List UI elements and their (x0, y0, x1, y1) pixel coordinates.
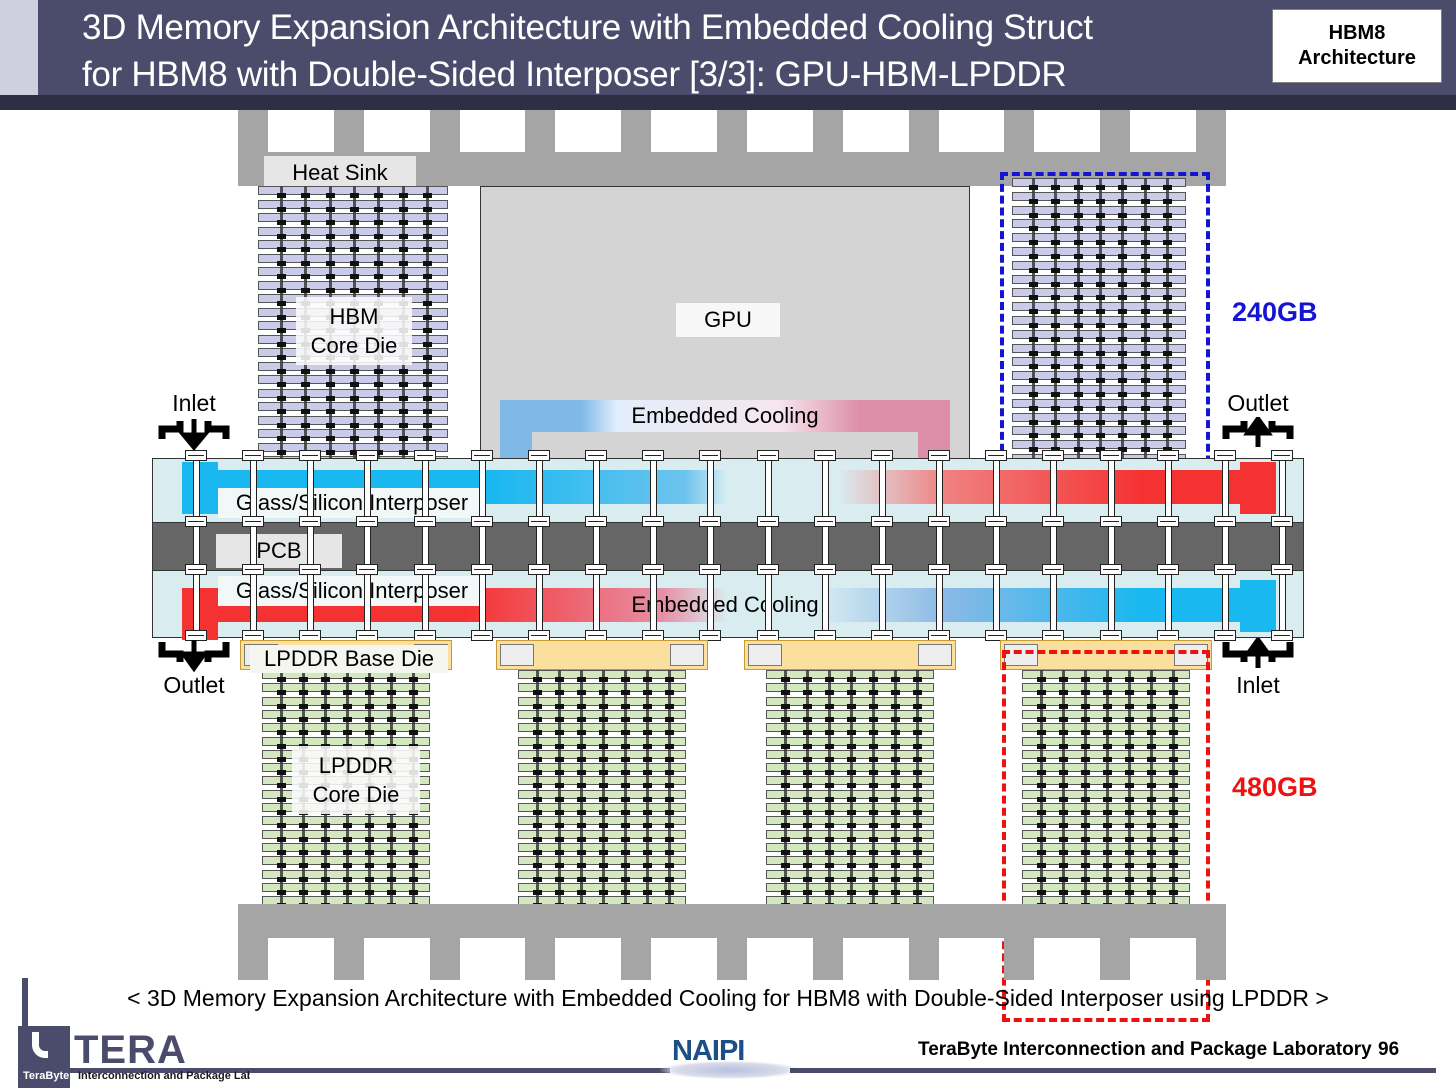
microbump (555, 730, 564, 735)
microbump (321, 730, 330, 735)
microbump (803, 863, 812, 868)
micro-bump (585, 450, 607, 461)
microbump (326, 234, 335, 239)
through-via (707, 570, 714, 638)
microbump (891, 783, 900, 788)
microbump (277, 355, 286, 360)
microbump (374, 382, 383, 387)
microbump (555, 690, 564, 695)
microbump (277, 220, 286, 225)
through-via (422, 570, 429, 638)
microbump (399, 274, 408, 279)
microbump (577, 863, 586, 868)
micro-bump (471, 516, 493, 527)
microbump (781, 744, 790, 749)
microbump (350, 423, 359, 428)
microbump (825, 850, 834, 855)
hbm-core-label-line1: HBM (330, 302, 379, 331)
micro-bump (928, 450, 950, 461)
microbump (825, 890, 834, 895)
microbump (374, 220, 383, 225)
footer-rule-right (790, 1068, 1436, 1073)
port-bottom-right-label: Inlet (1222, 672, 1294, 699)
microbump (555, 850, 564, 855)
heat-sink-fin (1196, 110, 1226, 154)
micro-bump (528, 450, 550, 461)
through-via (936, 570, 943, 638)
microbump (577, 890, 586, 895)
lpddr-stack (766, 670, 934, 922)
microbump (825, 744, 834, 749)
microbump (387, 823, 396, 828)
microbump (621, 890, 630, 895)
lpddr-base-die-label: LPDDR Base Die (250, 645, 448, 673)
microbump (277, 863, 286, 868)
microbump (423, 247, 432, 252)
microbump (374, 193, 383, 198)
microbump (869, 677, 878, 682)
microbump (301, 220, 310, 225)
micro-bump (1100, 516, 1122, 527)
lpddr-stack (518, 670, 686, 922)
micro-bump (757, 564, 779, 575)
bottom-cooling-label: Embedded Cooling (610, 590, 840, 620)
microbump (555, 823, 564, 828)
hbm-core-die-label: HBM Core Die (296, 297, 412, 365)
microbump (891, 877, 900, 882)
microbump (599, 744, 608, 749)
microbump (577, 770, 586, 775)
microbump (409, 877, 418, 882)
microbump (913, 730, 922, 735)
micro-bump (1042, 516, 1064, 527)
tera-logo-word: TERA (74, 1028, 187, 1073)
micro-bump (299, 564, 321, 575)
microbump (399, 220, 408, 225)
microbump (869, 690, 878, 695)
microbump (847, 757, 856, 762)
microbump (387, 863, 396, 868)
microbump (423, 301, 432, 306)
lpddr-base-die (744, 640, 956, 670)
microbump (891, 677, 900, 682)
micro-bump (242, 564, 264, 575)
microbump (621, 823, 630, 828)
microbump (781, 717, 790, 722)
through-via (1108, 458, 1115, 524)
microbump (825, 837, 834, 842)
through-via (307, 458, 314, 524)
through-via (936, 458, 943, 524)
microbump (599, 810, 608, 815)
microbump (299, 863, 308, 868)
through-via (707, 458, 714, 524)
microbump (825, 717, 834, 722)
badge-line1: HBM8 (1329, 21, 1386, 46)
microbump (913, 823, 922, 828)
micro-bump (699, 564, 721, 575)
microbump (555, 877, 564, 882)
status-badge: HBM8 Architecture (1272, 9, 1442, 83)
through-via (879, 570, 886, 638)
port-top-right-label: Outlet (1222, 390, 1294, 417)
microbump (621, 677, 630, 682)
microbump (299, 837, 308, 842)
heat-sink-fin (1100, 936, 1130, 980)
microbump (891, 810, 900, 815)
microbump (399, 450, 408, 455)
through-via (193, 458, 200, 524)
microbump (803, 770, 812, 775)
microbump (277, 369, 286, 374)
through-via (1165, 570, 1172, 638)
microbump (781, 823, 790, 828)
microbump (409, 823, 418, 828)
heat-sink-fin (334, 936, 364, 980)
micro-bump (1042, 564, 1064, 575)
tera-logo: TERA TeraByte Interconnection and Packag… (18, 1026, 250, 1088)
microbump (825, 704, 834, 709)
microbump (277, 274, 286, 279)
micro-bump (814, 564, 836, 575)
microbump (665, 717, 674, 722)
microbump (869, 770, 878, 775)
micro-bump (985, 564, 1007, 575)
microbump (621, 850, 630, 855)
through-via (422, 458, 429, 524)
micro-bump (1100, 564, 1122, 575)
microbump (277, 783, 286, 788)
microbump (621, 783, 630, 788)
microbump (343, 690, 352, 695)
lpddr-capacity-label: 480GB (1232, 772, 1318, 803)
microbump (387, 677, 396, 682)
lpddr-core-die-label: LPDDR Core Die (292, 746, 420, 814)
microbump (374, 396, 383, 401)
microbump (847, 810, 856, 815)
microbump (277, 850, 286, 855)
microbump (301, 436, 310, 441)
microbump (643, 810, 652, 815)
microbump (533, 877, 542, 882)
microbump (423, 382, 432, 387)
microbump (365, 704, 374, 709)
microbump (533, 850, 542, 855)
microbump (409, 690, 418, 695)
heat-sink-fin (909, 110, 939, 154)
microbump (577, 717, 586, 722)
microbump (803, 730, 812, 735)
naipi-logo: NAIPI (672, 1035, 744, 1068)
microbump (365, 863, 374, 868)
microbump (326, 274, 335, 279)
outlet-arrow-icon-bottom (158, 638, 230, 672)
microbump (825, 757, 834, 762)
microbump (343, 730, 352, 735)
microbump (299, 890, 308, 895)
bottom-interposer-label: Glass/Silicon Interposer (218, 576, 486, 606)
bottom-inlet-port-fill (1240, 580, 1276, 632)
microbump (847, 717, 856, 722)
through-via (650, 570, 657, 638)
microbump (409, 837, 418, 842)
through-via (250, 570, 257, 638)
microbump (665, 823, 674, 828)
microbump (891, 717, 900, 722)
microbump (399, 369, 408, 374)
microbump (326, 382, 335, 387)
microbump (374, 274, 383, 279)
microbump (847, 863, 856, 868)
microbump (913, 810, 922, 815)
microbump (343, 863, 352, 868)
microbump (891, 797, 900, 802)
microbump (326, 207, 335, 212)
microbump (321, 863, 330, 868)
through-via (364, 570, 371, 638)
microbump (577, 877, 586, 882)
microbump (665, 863, 674, 868)
through-via (307, 570, 314, 638)
microbump (277, 342, 286, 347)
microbump (847, 837, 856, 842)
architecture-diagram: Heat Sink HBM Core Die HBM Base Die 240G… (0, 110, 1456, 972)
microbump (277, 207, 286, 212)
microbump (423, 207, 432, 212)
micro-bump (185, 564, 207, 575)
heat-sink-label: Heat Sink (264, 156, 416, 190)
microbump (350, 396, 359, 401)
micro-bump (242, 516, 264, 527)
heat-sink-fin (717, 936, 747, 980)
microbump (825, 797, 834, 802)
heat-sink-fin (238, 110, 268, 154)
microbump (643, 690, 652, 695)
microbump (301, 247, 310, 252)
microbump (299, 877, 308, 882)
microbump (555, 704, 564, 709)
microbump (781, 730, 790, 735)
microbump (343, 890, 352, 895)
microbump (891, 850, 900, 855)
microbump (387, 877, 396, 882)
microbump (803, 823, 812, 828)
top-interposer-label: Glass/Silicon Interposer (218, 488, 486, 518)
microbump (277, 744, 286, 749)
micro-bump (414, 564, 436, 575)
microbump (665, 837, 674, 842)
microbump (913, 770, 922, 775)
microbump (847, 704, 856, 709)
microbump (665, 770, 674, 775)
heat-sink-fin (909, 936, 939, 980)
microbump (869, 717, 878, 722)
microbump (599, 797, 608, 802)
microbump (299, 730, 308, 735)
micro-bump (699, 516, 721, 527)
microbump (409, 863, 418, 868)
through-via (364, 458, 371, 524)
microbump (321, 690, 330, 695)
micro-bump (185, 516, 207, 527)
microbump (533, 770, 542, 775)
microbump (621, 810, 630, 815)
microbump (365, 823, 374, 828)
micro-bump (1157, 564, 1179, 575)
inlet-arrow-icon-bottom (1222, 638, 1294, 672)
microbump (621, 797, 630, 802)
microbump (577, 823, 586, 828)
tera-logo-subtitle: Interconnection and Package Laboratory (78, 1070, 250, 1082)
microbump (621, 770, 630, 775)
microbump (321, 717, 330, 722)
microbump (781, 850, 790, 855)
microbump (326, 396, 335, 401)
microbump (891, 837, 900, 842)
microbump (533, 757, 542, 762)
microbump (599, 730, 608, 735)
microbump (555, 810, 564, 815)
microbump (277, 704, 286, 709)
microbump (343, 677, 352, 682)
microbump (277, 328, 286, 333)
microbump (913, 863, 922, 868)
microbump (423, 315, 432, 320)
microbump (277, 436, 286, 441)
microbump (326, 220, 335, 225)
microbump (803, 890, 812, 895)
microbump (399, 396, 408, 401)
microbump (621, 837, 630, 842)
microbump (277, 382, 286, 387)
microbump (387, 837, 396, 842)
microbump (847, 783, 856, 788)
microbump (869, 704, 878, 709)
slide-footer: TERA TeraByte Interconnection and Packag… (0, 1021, 1456, 1091)
microbump (301, 369, 310, 374)
microbump (665, 810, 674, 815)
microbump (399, 193, 408, 198)
microbump (781, 890, 790, 895)
microbump (555, 757, 564, 762)
microbump (533, 730, 542, 735)
micro-bump (1157, 516, 1179, 527)
microbump (869, 837, 878, 842)
micro-bump (871, 450, 893, 461)
microbump (643, 704, 652, 709)
microbump (321, 704, 330, 709)
microbump (409, 730, 418, 735)
microbump (387, 704, 396, 709)
lpddr-base-cap-left (500, 644, 534, 666)
microbump (301, 193, 310, 198)
microbump (825, 677, 834, 682)
microbump (869, 890, 878, 895)
micro-bump (1271, 516, 1293, 527)
microbump (803, 744, 812, 749)
gpu-label: GPU (676, 303, 780, 337)
microbump (326, 288, 335, 293)
microbump (643, 730, 652, 735)
microbump (374, 288, 383, 293)
heat-sink-fin (238, 936, 268, 980)
microbump (825, 877, 834, 882)
microbump (643, 717, 652, 722)
microbump (599, 837, 608, 842)
through-via (479, 570, 486, 638)
micro-bump (1271, 564, 1293, 575)
microbump (803, 677, 812, 682)
page-title-line2: for HBM8 with Double-Sided Interposer [3… (82, 51, 1312, 98)
through-via (993, 458, 1000, 524)
inlet-arrow-icon (158, 417, 230, 451)
microbump (423, 261, 432, 266)
microbump (599, 823, 608, 828)
microbump (277, 877, 286, 882)
micro-bump (642, 564, 664, 575)
microbump (277, 234, 286, 239)
microbump (326, 247, 335, 252)
micro-bump (642, 516, 664, 527)
micro-bump (1271, 450, 1293, 461)
microbump (277, 823, 286, 828)
microbump (387, 690, 396, 695)
page-title: 3D Memory Expansion Architecture with Em… (82, 4, 1312, 98)
through-via (993, 570, 1000, 638)
microbump (326, 193, 335, 198)
microbump (277, 315, 286, 320)
microbump (277, 677, 286, 682)
bottom-heat-sink-base (238, 904, 1226, 938)
microbump (599, 757, 608, 762)
microbump (665, 704, 674, 709)
through-via (879, 458, 886, 524)
microbump (301, 396, 310, 401)
microbump (781, 783, 790, 788)
top-outlet-port-fill (1240, 462, 1276, 514)
microbump (343, 877, 352, 882)
microbump (277, 409, 286, 414)
microbump (913, 690, 922, 695)
lpddr-core-label-line1: LPDDR (319, 751, 394, 780)
microbump (277, 423, 286, 428)
microbump (643, 877, 652, 882)
microbump (326, 261, 335, 266)
microbump (350, 436, 359, 441)
micro-bump (471, 564, 493, 575)
microbump (891, 890, 900, 895)
microbump (387, 850, 396, 855)
microbump (577, 677, 586, 682)
microbump (599, 677, 608, 682)
microbump (350, 274, 359, 279)
microbump (847, 850, 856, 855)
micro-bump (185, 450, 207, 461)
microbump (374, 436, 383, 441)
microbump (781, 797, 790, 802)
port-bottom-right: Inlet (1222, 638, 1294, 699)
heat-sink-fin (1004, 936, 1034, 980)
port-top-left-label: Inlet (158, 390, 230, 417)
heat-sink-fin (525, 936, 555, 980)
microbump (913, 890, 922, 895)
microbump (599, 877, 608, 882)
heat-sink-fin (1004, 110, 1034, 154)
heat-sink-fin (621, 110, 651, 154)
micro-bump (814, 516, 836, 527)
microbump (599, 850, 608, 855)
microbump (350, 193, 359, 198)
